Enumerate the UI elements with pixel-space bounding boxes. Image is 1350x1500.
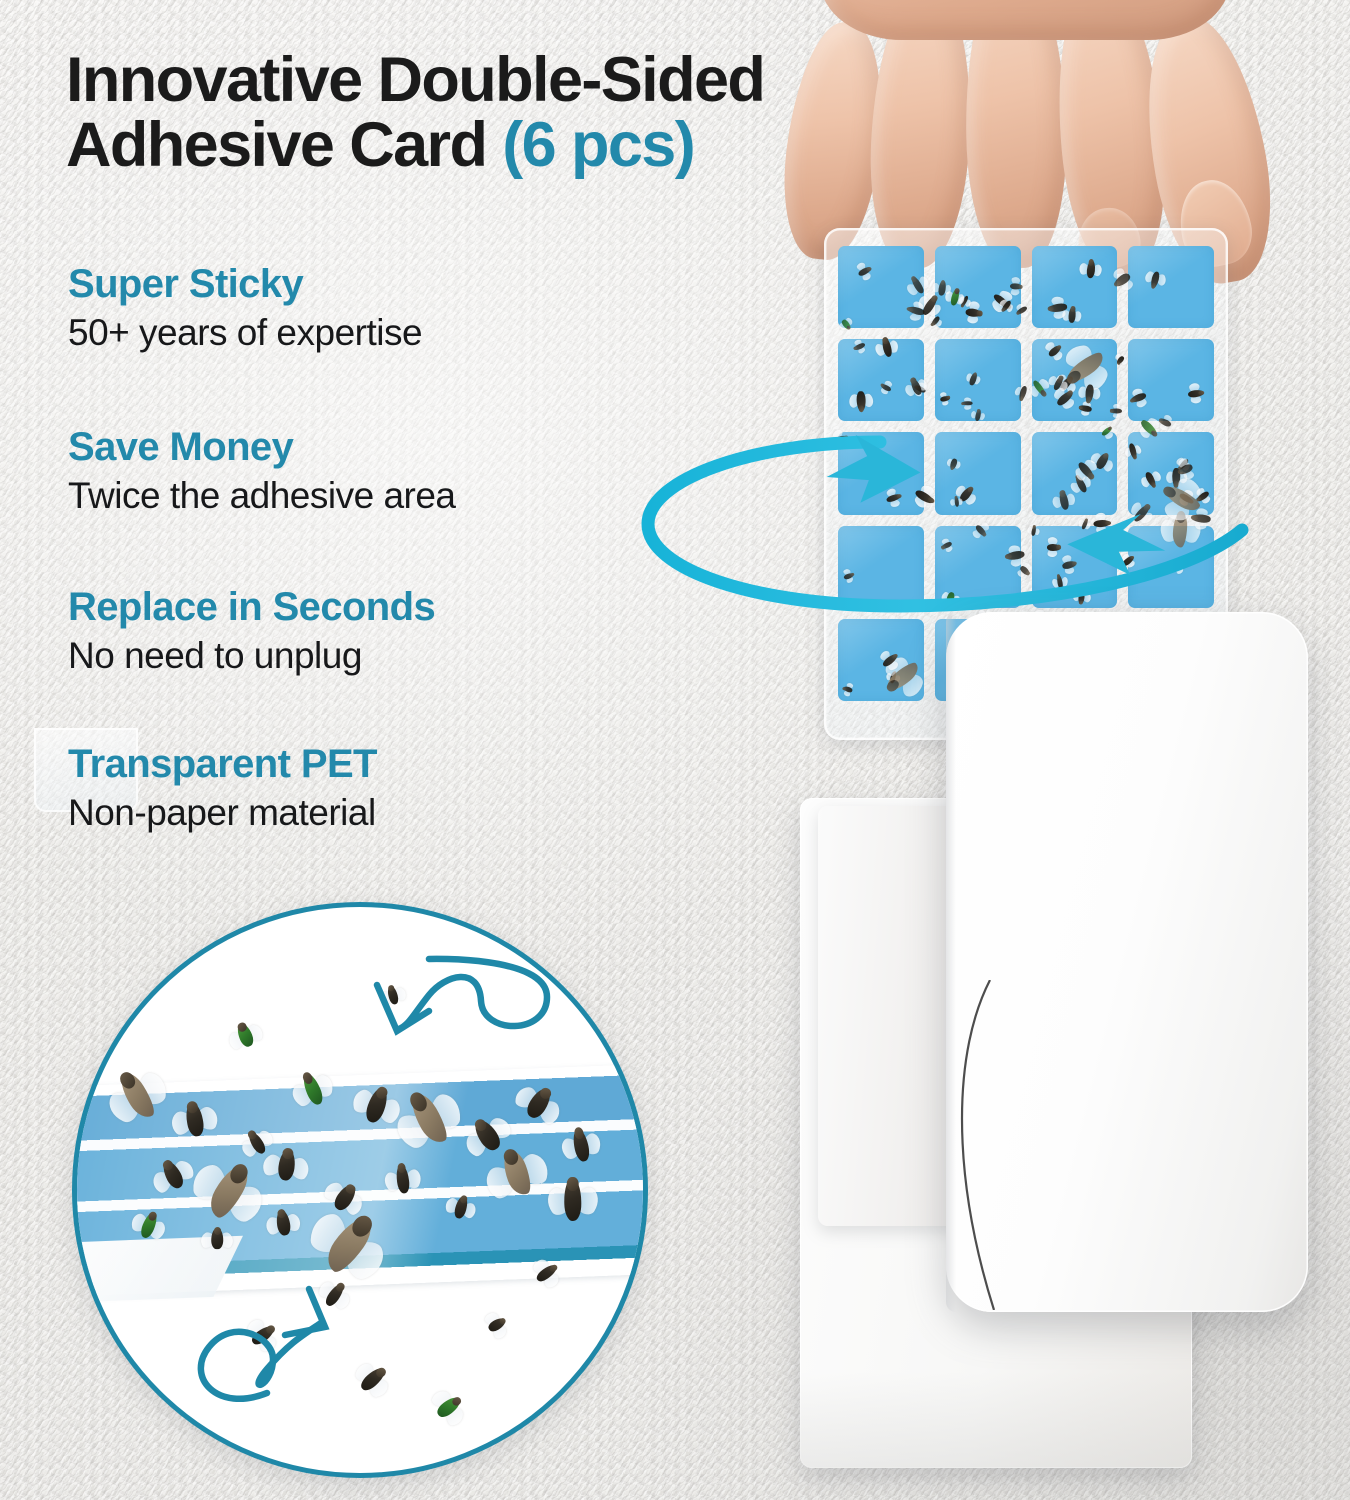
adhesive-pad <box>1128 246 1214 328</box>
feature-subtitle: Non-paper material <box>68 792 708 835</box>
adhesive-pad <box>1032 246 1118 328</box>
title-line-2-main: Adhesive Card <box>66 110 502 180</box>
feature-item-transparent-pet: Transparent PET Non-paper material <box>68 742 708 835</box>
feature-title: Save Money <box>68 425 708 470</box>
feature-title: Replace in Seconds <box>68 585 708 630</box>
title-line-1: Innovative Double-Sided <box>66 48 966 113</box>
adhesive-pad <box>838 339 924 421</box>
adhesive-pad <box>838 526 924 608</box>
inset-arrows <box>77 907 643 1473</box>
adhesive-pad <box>1128 339 1214 421</box>
adhesive-pad <box>838 619 924 701</box>
adhesive-pad <box>838 246 924 328</box>
feature-subtitle: Twice the adhesive area <box>68 475 708 518</box>
feature-title: Transparent PET <box>68 742 708 787</box>
feature-item-super-sticky: Super Sticky 50+ years of expertise <box>68 262 708 355</box>
adhesive-pad <box>935 526 1021 608</box>
infographic-canvas: Innovative Double-Sided Adhesive Card (6… <box>0 0 1350 1500</box>
page-title: Innovative Double-Sided Adhesive Card (6… <box>66 48 966 178</box>
adhesive-pad <box>1128 526 1214 608</box>
adhesive-pad <box>1128 432 1214 514</box>
adhesive-pad <box>838 432 924 514</box>
feature-subtitle: No need to unplug <box>68 635 708 678</box>
adhesive-pad <box>1032 432 1118 514</box>
title-quantity-badge: (6 pcs) <box>502 110 694 180</box>
title-line-2: Adhesive Card (6 pcs) <box>66 113 966 178</box>
adhesive-pad <box>935 246 1021 328</box>
adhesive-pad <box>1032 526 1118 608</box>
adhesive-pad <box>935 339 1021 421</box>
feature-title: Super Sticky <box>68 262 708 307</box>
device-edge-curve <box>946 980 1026 1310</box>
adhesive-pad <box>1032 339 1118 421</box>
magnified-detail-circle <box>72 902 648 1478</box>
adhesive-pad <box>935 432 1021 514</box>
feature-item-save-money: Save Money Twice the adhesive area <box>68 425 708 518</box>
feature-subtitle: 50+ years of expertise <box>68 312 708 355</box>
feature-item-replace-in-seconds: Replace in Seconds No need to unplug <box>68 585 708 678</box>
